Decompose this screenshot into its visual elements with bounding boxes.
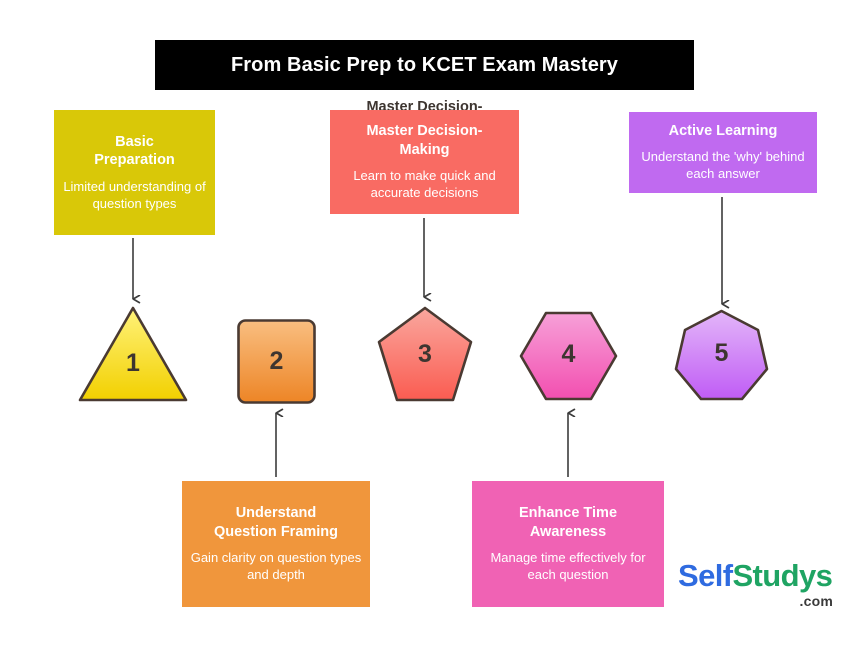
shape-step-3-pentagon: 3 [376, 305, 474, 405]
logo-text-dotcom: .com [678, 594, 833, 608]
hexagon-icon [518, 310, 619, 402]
logo-text-studys: Studys [732, 558, 832, 593]
triangle-icon [74, 303, 192, 407]
shape-step-5-heptagon: 5 [673, 308, 770, 403]
heptagon-icon [673, 308, 770, 403]
shape-step-1-triangle: 1 [74, 303, 192, 407]
logo-wordmark: SelfStudys [678, 560, 833, 591]
square-icon [236, 318, 317, 405]
selfstudys-logo[interactable]: SelfStudys .com [678, 560, 833, 616]
shape-step-4-hexagon: 4 [518, 310, 619, 402]
pentagon-icon [376, 305, 474, 405]
shape-step-2-square: 2 [236, 318, 317, 405]
infographic-canvas: From Basic Prep to KCET Exam Mastery Mas… [0, 0, 852, 654]
logo-text-self: Self [678, 558, 732, 593]
